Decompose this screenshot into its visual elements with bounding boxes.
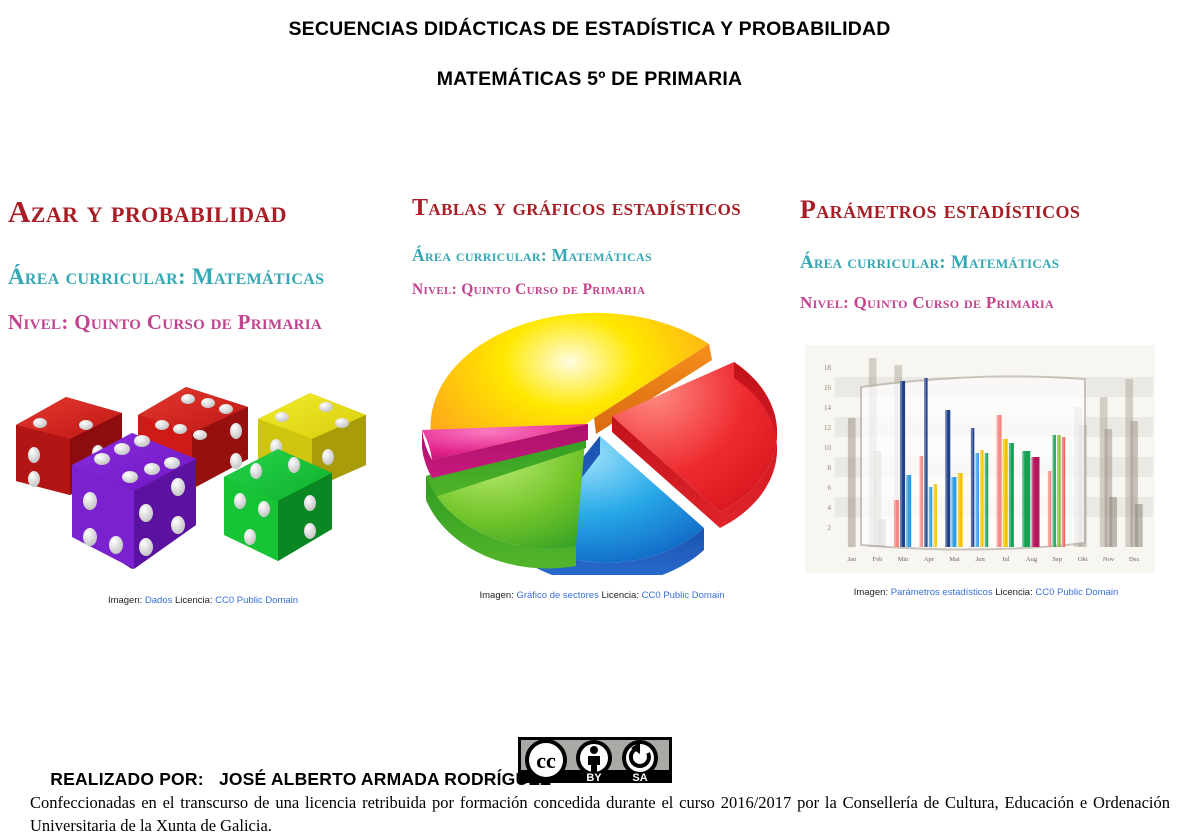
svg-text:Aug: Aug	[1026, 556, 1038, 563]
dice-illustration	[10, 385, 370, 580]
caption-middle: Licencia:	[993, 587, 1036, 598]
svg-text:18: 18	[824, 364, 832, 372]
caption-prefix: Imagen:	[108, 595, 145, 606]
section-parametros-estadisticos: Parámetros estadísticos Área curricular:…	[800, 195, 1172, 313]
svg-text:Sep: Sep	[1052, 556, 1062, 563]
svg-text:Mär: Mär	[898, 556, 910, 563]
section-heading: Azar y probabilidad	[8, 195, 398, 229]
svg-text:4: 4	[828, 504, 832, 512]
svg-text:Okt: Okt	[1078, 556, 1088, 563]
svg-text:6: 6	[828, 484, 832, 492]
caption-image-link[interactable]: Gráfico de sectores	[516, 590, 598, 601]
caption-image-link[interactable]: Dados	[145, 595, 172, 606]
svg-text:12: 12	[824, 424, 832, 432]
svg-text:Jun: Jun	[976, 556, 986, 563]
section-level-label: Nivel: Quinto Curso de Primaria	[8, 310, 398, 334]
caption-image-link[interactable]: Parámetros estadísticos	[891, 587, 993, 598]
svg-text:8: 8	[828, 464, 832, 472]
author-label: REALIZADO POR:	[50, 769, 204, 789]
section-heading: Parámetros estadísticos	[800, 195, 1172, 224]
figure-caption: Imagen: Parámetros estadísticos Licencia…	[800, 587, 1172, 598]
section-heading: Tablas y gráficos estadísticos	[412, 195, 792, 222]
svg-text:14: 14	[824, 404, 832, 412]
caption-license-link[interactable]: CC0 Public Domain	[215, 595, 298, 606]
section-area-label: Área curricular: Matemáticas	[800, 252, 1172, 274]
svg-text:Dez: Dez	[1129, 556, 1140, 563]
caption-license-link[interactable]: CC0 Public Domain	[1035, 587, 1118, 598]
page-title-line-1: SECUENCIAS DIDÁCTICAS DE ESTADÍSTICA Y P…	[0, 18, 1179, 41]
page-title-line-2: MATEMÁTICAS 5º DE PRIMARIA	[0, 68, 1179, 91]
svg-text:10: 10	[824, 444, 832, 452]
sa-label-text: SA	[632, 772, 647, 783]
svg-text:Feb: Feb	[873, 556, 883, 563]
caption-middle: Licencia:	[599, 590, 642, 601]
cc-glyph-text: cc	[536, 748, 556, 773]
caption-license-link[interactable]: CC0 Public Domain	[642, 590, 725, 601]
svg-text:Apr: Apr	[924, 556, 935, 563]
svg-text:Mai: Mai	[949, 556, 960, 563]
svg-text:Jan: Jan	[847, 556, 856, 563]
section-azar-y-probabilidad: Azar y probabilidad Área curricular: Mat…	[8, 195, 398, 334]
caption-middle: Licencia:	[172, 595, 215, 606]
svg-text:2: 2	[828, 524, 832, 532]
by-label-text: BY	[586, 772, 602, 783]
section-level-label: Nivel: Quinto Curso de Primaria	[412, 281, 792, 299]
author-name: JOSÉ ALBERTO ARMADA RODRÍGUEZ	[219, 769, 551, 789]
section-tablas-y-graficos: Tablas y gráficos estadísticos Área curr…	[412, 195, 792, 299]
section-area-label: Área curricular: Matemáticas	[412, 245, 792, 265]
svg-text:16: 16	[824, 384, 832, 392]
footer-note: Confeccionadas en el transcurso de una l…	[30, 791, 1170, 837]
svg-text:Nov: Nov	[1103, 556, 1115, 563]
pie-chart-illustration	[404, 300, 784, 575]
svg-text:Jul: Jul	[1002, 556, 1010, 563]
caption-prefix: Imagen:	[854, 587, 891, 598]
bar-chart-illustration: 24681012141618JanFebMärAprMaiJunJulAugSe…	[805, 345, 1155, 573]
footer-note-text: Confeccionadas en el transcurso de una l…	[30, 791, 1170, 837]
caption-prefix: Imagen:	[479, 590, 516, 601]
figure-caption: Imagen: Gráfico de sectores Licencia: CC…	[412, 590, 792, 601]
document-page: SECUENCIAS DIDÁCTICAS DE ESTADÍSTICA Y P…	[0, 0, 1179, 839]
figure-caption: Imagen: Dados Licencia: CC0 Public Domai…	[8, 595, 398, 606]
section-area-label: Área curricular: Matemáticas	[8, 264, 398, 290]
section-level-label: Nivel: Quinto Curso de Primaria	[800, 293, 1172, 313]
cc-by-sa-badge[interactable]: cc BY SA	[518, 737, 672, 783]
